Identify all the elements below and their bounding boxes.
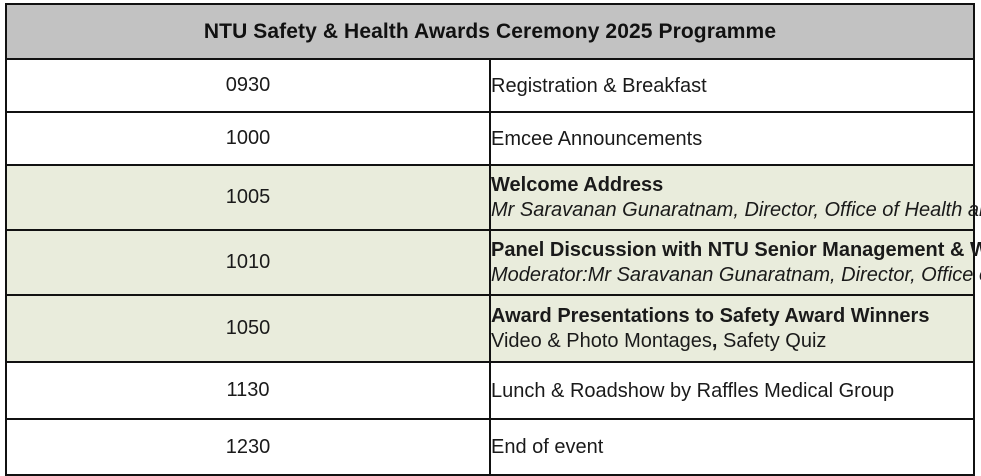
row-time: 1050 <box>6 295 490 362</box>
table-row: 1130 Lunch & Roadshow by Raffles Medical… <box>6 362 974 419</box>
table-row: 1010 Panel Discussion with NTU Senior Ma… <box>6 230 974 295</box>
table-row: 1000 Emcee Announcements <box>6 112 974 165</box>
table-header-row: NTU Safety & Health Awards Ceremony 2025… <box>6 4 974 59</box>
table-row: 0930 Registration & Breakfast <box>6 59 974 112</box>
row-description: Award Presentations to Safety Award Winn… <box>490 295 974 362</box>
table-row: 1050 Award Presentations to Safety Award… <box>6 295 974 362</box>
row-time: 1000 <box>6 112 490 165</box>
row-description: Lunch & Roadshow by Raffles Medical Grou… <box>490 362 974 419</box>
row-description: Welcome Address Mr Saravanan Gunaratnam,… <box>490 165 974 230</box>
table-row: 1005 Welcome Address Mr Saravanan Gunara… <box>6 165 974 230</box>
programme-table: NTU Safety & Health Awards Ceremony 2025… <box>5 3 975 476</box>
row-primary-text: Panel Discussion with NTU Senior Managem… <box>491 238 973 262</box>
row-time: 0930 <box>6 59 490 112</box>
row-description: Panel Discussion with NTU Senior Managem… <box>490 230 974 295</box>
row-time: 1130 <box>6 362 490 419</box>
row-primary-text: End of event <box>491 435 973 459</box>
table-row: 1230 End of event <box>6 419 974 475</box>
programme-sheet: NTU Safety & Health Awards Ceremony 2025… <box>0 0 981 468</box>
row-time: 1005 <box>6 165 490 230</box>
row-primary-text: Emcee Announcements <box>491 127 973 151</box>
row-description: Registration & Breakfast <box>490 59 974 112</box>
row-description: End of event <box>490 419 974 475</box>
row-secondary-text: Mr Saravanan Gunaratnam, Director, Offic… <box>491 198 973 222</box>
programme-title: NTU Safety & Health Awards Ceremony 2025… <box>6 4 974 59</box>
row-secondary-part2: Safety Quiz <box>717 330 826 352</box>
row-secondary-part1: Video & Photo Montages <box>491 330 712 352</box>
row-primary-text: Award Presentations to Safety Award Winn… <box>491 304 973 328</box>
row-primary-text: Welcome Address <box>491 173 973 197</box>
row-secondary-text: Moderator:Mr Saravanan Gunaratnam, Direc… <box>491 263 973 287</box>
row-primary-text: Lunch & Roadshow by Raffles Medical Grou… <box>491 379 973 403</box>
row-secondary-text: Video & Photo Montages, Safety Quiz <box>491 329 973 353</box>
row-time: 1230 <box>6 419 490 475</box>
row-description: Emcee Announcements <box>490 112 974 165</box>
row-time: 1010 <box>6 230 490 295</box>
row-primary-text: Registration & Breakfast <box>491 74 973 98</box>
